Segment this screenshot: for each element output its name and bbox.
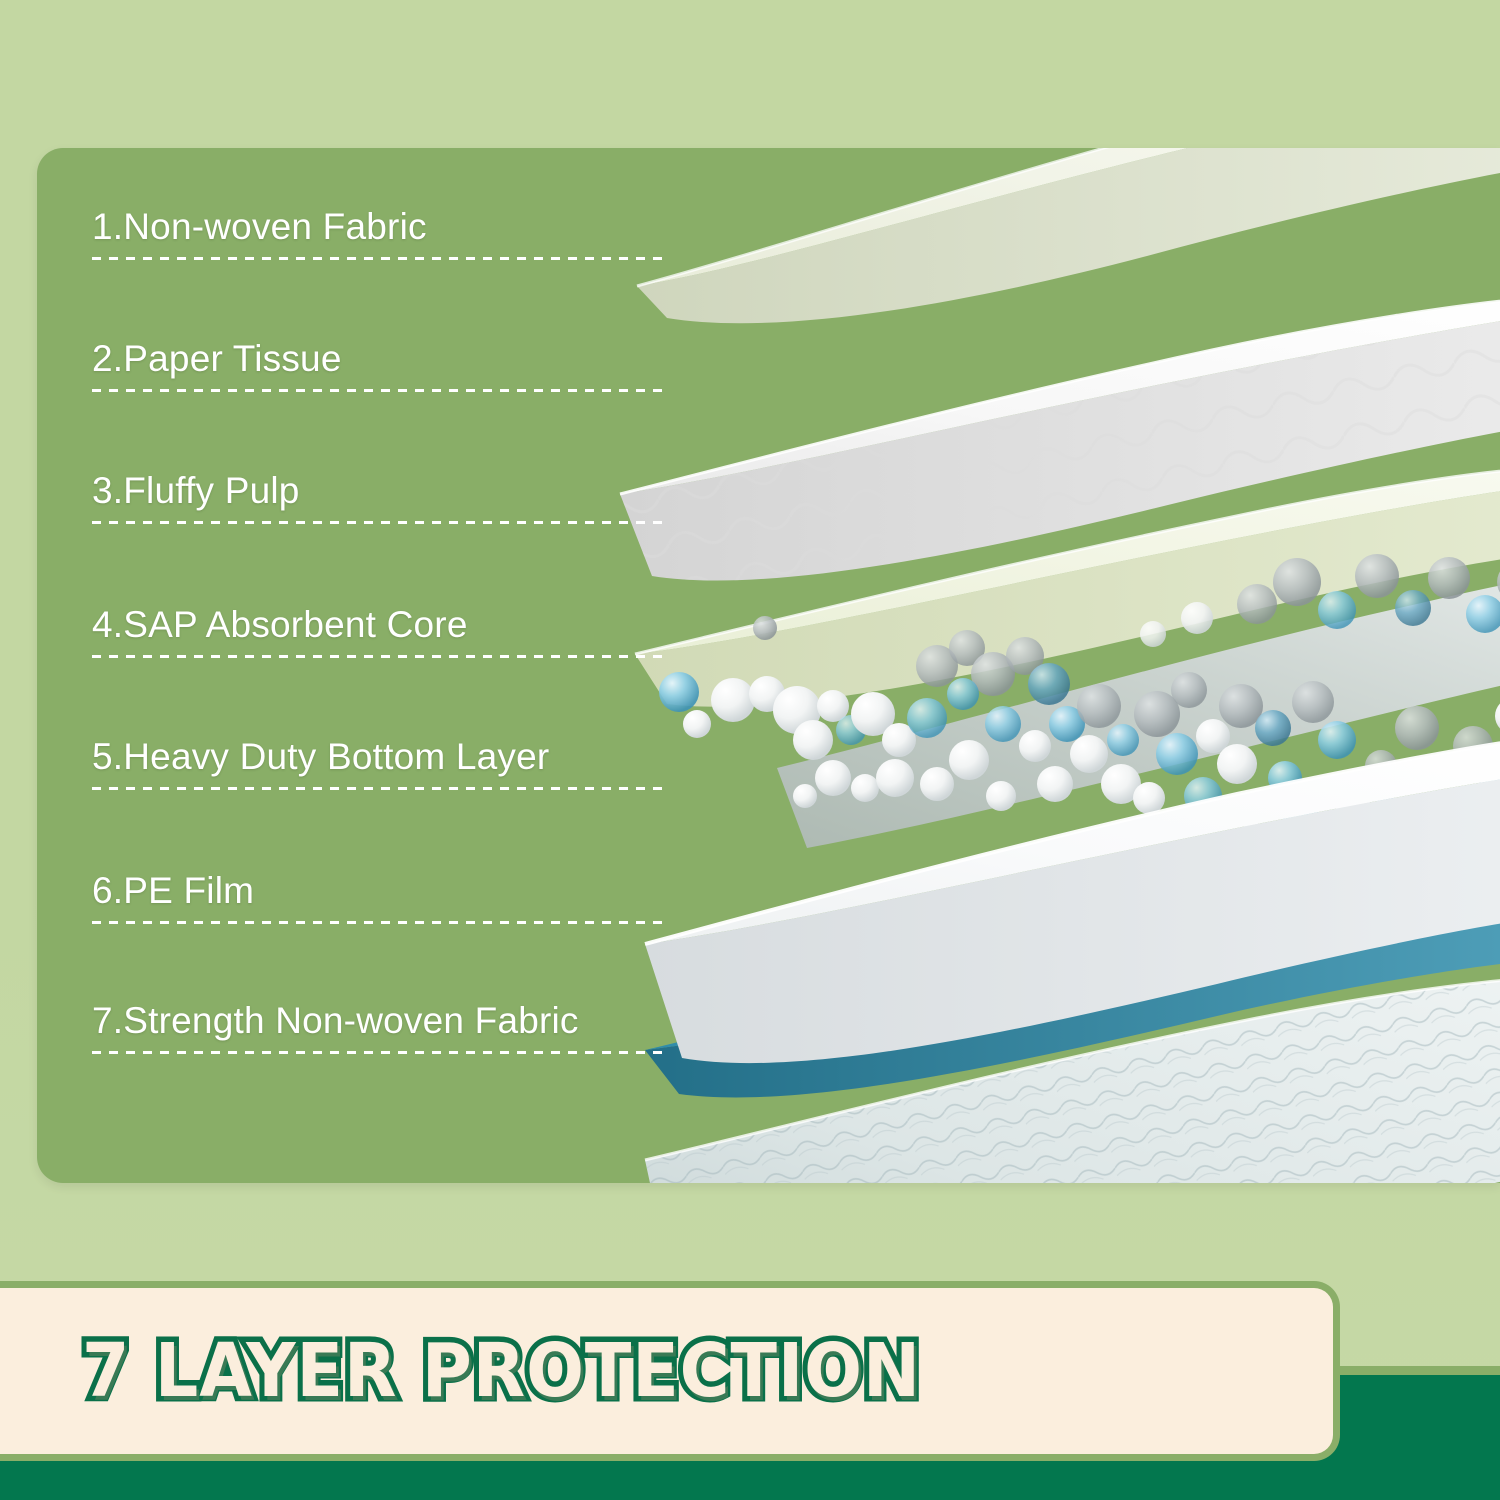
layer-5-label: 5.Heavy Duty Bottom Layer	[92, 736, 712, 778]
layer-2-label: 2.Paper Tissue	[92, 338, 712, 380]
layer-6-label: 6.PE Film	[92, 870, 712, 912]
layer-2-leader-line	[92, 389, 670, 392]
layer-6-leader-line	[92, 921, 670, 924]
banner-title: 7 LAYER PROTECTION	[82, 1328, 921, 1414]
layer-7-leader-line	[92, 1051, 670, 1054]
label-row-6: 6.PE Film	[92, 870, 712, 924]
label-row-4: 4.SAP Absorbent Core	[92, 604, 712, 658]
layer-4-leader-line	[92, 655, 670, 658]
protection-banner: 7 LAYER PROTECTION	[0, 1281, 1340, 1461]
layer-7-label: 7.Strength Non-woven Fabric	[92, 1000, 712, 1042]
layer-1-leader-line	[92, 257, 670, 260]
layer-1-label: 1.Non-woven Fabric	[92, 206, 712, 248]
layer-labels: 1.Non-woven Fabric 2.Paper Tissue 3.Fluf…	[37, 148, 1500, 1183]
label-row-7: 7.Strength Non-woven Fabric	[92, 1000, 712, 1054]
layer-3-leader-line	[92, 521, 670, 524]
label-row-3: 3.Fluffy Pulp	[92, 470, 712, 524]
label-row-2: 2.Paper Tissue	[92, 338, 712, 392]
layer-3-label: 3.Fluffy Pulp	[92, 470, 712, 512]
label-row-1: 1.Non-woven Fabric	[92, 206, 712, 260]
layers-card: 1.Non-woven Fabric 2.Paper Tissue 3.Fluf…	[37, 148, 1500, 1183]
label-row-5: 5.Heavy Duty Bottom Layer	[92, 736, 712, 790]
layer-4-label: 4.SAP Absorbent Core	[92, 604, 712, 646]
layer-5-leader-line	[92, 787, 670, 790]
